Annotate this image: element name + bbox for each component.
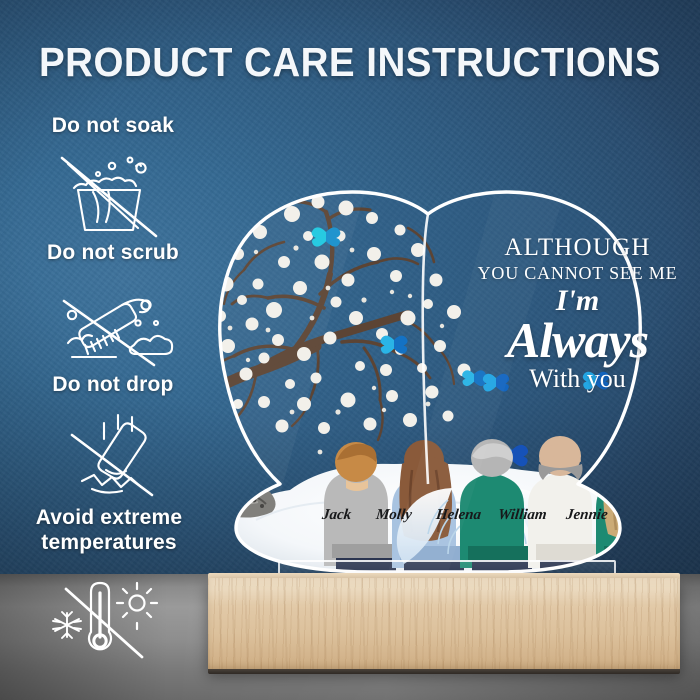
care-label: Do not scrub xyxy=(8,240,218,265)
no-drop-icon xyxy=(38,403,188,503)
care-item-do-not-soak: Do not soak xyxy=(8,113,218,244)
care-label: Avoid extreme temperatures xyxy=(4,505,214,555)
name-jennie: Jennie xyxy=(565,505,609,525)
no-soak-icon xyxy=(38,144,188,244)
care-item-avoid-extreme-temperatures: Avoid extreme temperatures xyxy=(4,505,214,671)
name-molly: Molly xyxy=(375,505,413,525)
name-jack: Jack xyxy=(321,505,352,525)
care-label: Do not drop xyxy=(8,372,218,397)
care-item-do-not-drop: Do not drop xyxy=(8,372,218,503)
no-scrub-icon xyxy=(38,271,188,371)
name-helena: Helena xyxy=(435,505,482,525)
care-instructions-poster: PRODUCT CARE INSTRUCTIONS Do not soak Do… xyxy=(0,0,700,700)
page-title: PRODUCT CARE INSTRUCTIONS xyxy=(21,40,679,84)
care-label: Do not soak xyxy=(8,113,218,138)
name-william: William xyxy=(497,505,548,525)
wooden-base xyxy=(208,578,680,670)
care-item-do-not-scrub: Do not scrub xyxy=(8,240,218,371)
no-extreme-temperature-icon xyxy=(34,561,184,671)
name-row: Jack Molly Helena William Jennie xyxy=(308,505,568,529)
